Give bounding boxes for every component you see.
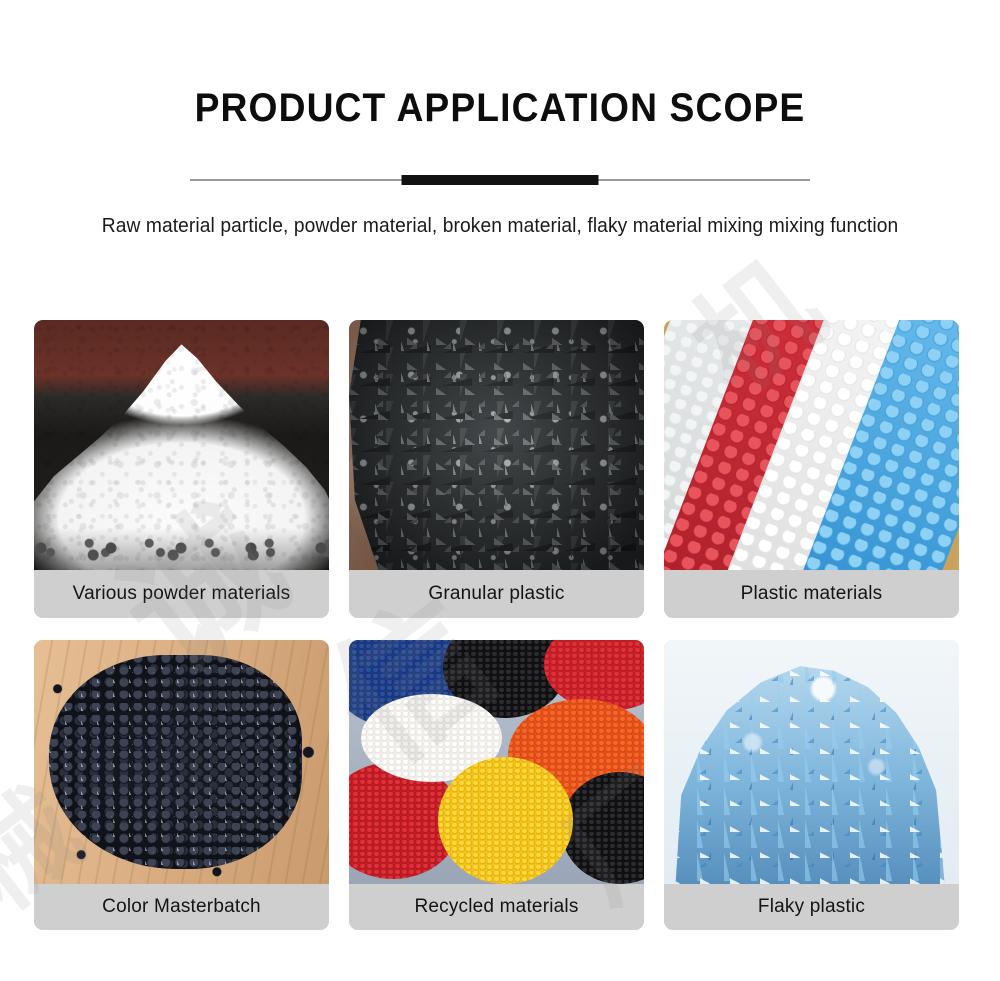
card-caption: Various powder materials xyxy=(34,570,329,618)
card-caption: Plastic materials xyxy=(664,570,959,618)
flake-highlight-overlay xyxy=(664,640,959,884)
gallery-card-granular[interactable]: Granular plastic xyxy=(349,320,644,618)
white-powder-pile-photo xyxy=(34,320,329,570)
black-granular-plastic-photo xyxy=(349,320,644,570)
black-masterbatch-photo xyxy=(34,640,329,884)
gallery-card-masterbatch[interactable]: Color Masterbatch xyxy=(34,640,329,930)
product-gallery-grid: Various powder materials Granular plasti… xyxy=(34,320,959,930)
page-header: PRODUCT APPLICATION SCOPE Raw material p… xyxy=(0,0,1000,238)
page-title: PRODUCT APPLICATION SCOPE xyxy=(35,88,965,128)
card-caption: Color Masterbatch xyxy=(34,884,329,930)
divider-accent-bar xyxy=(402,175,599,185)
card-caption: Flaky plastic xyxy=(664,884,959,930)
granule-shading-overlay xyxy=(349,320,644,570)
blue-flaky-plastic-photo xyxy=(664,640,959,884)
dark-gravel-foreground xyxy=(34,528,329,571)
gallery-card-flaky[interactable]: Flaky plastic xyxy=(664,640,959,930)
pellet-sheen-overlay xyxy=(49,655,303,870)
title-divider xyxy=(190,175,810,185)
card-caption: Recycled materials xyxy=(349,884,644,930)
recycled-granules-photo xyxy=(349,640,644,884)
card-caption: Granular plastic xyxy=(349,570,644,618)
colored-plastic-pellets-photo xyxy=(664,320,959,570)
gallery-card-recycled[interactable]: Recycled materials xyxy=(349,640,644,930)
page-subtitle: Raw material particle, powder material, … xyxy=(20,215,980,238)
gallery-card-plastic-materials[interactable]: Plastic materials xyxy=(664,320,959,618)
yellow-granule-pile xyxy=(438,757,574,884)
gallery-card-powder[interactable]: Various powder materials xyxy=(34,320,329,618)
